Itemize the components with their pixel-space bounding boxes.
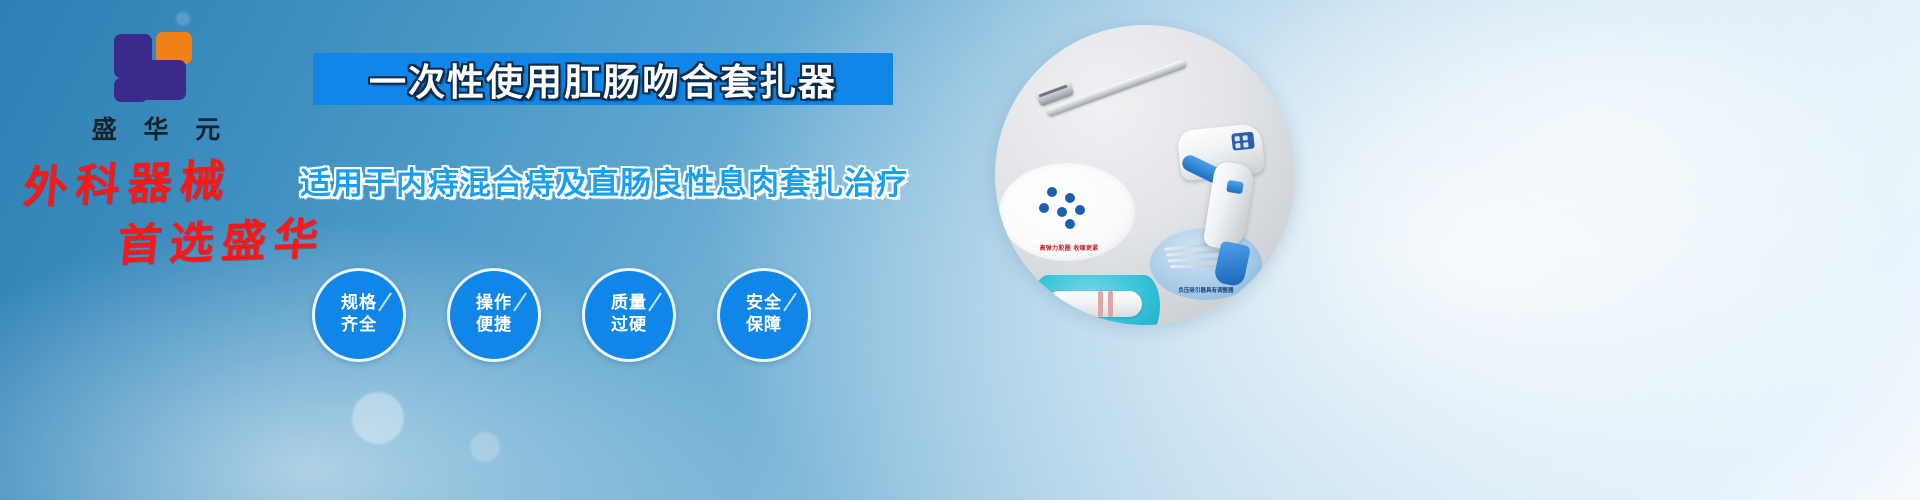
feature-badge-line-1: 规格 xyxy=(341,293,377,315)
feature-badge-line-2: 便捷 xyxy=(476,315,512,337)
feature-badge-operation[interactable]: 操作 便捷 xyxy=(447,268,541,362)
company-logo[interactable]: 盛 华 元 xyxy=(66,26,246,146)
page-title: 一次性使用肛肠吻合套扎器 xyxy=(313,53,893,105)
feature-badge-quality[interactable]: 质量 过硬 xyxy=(582,268,676,362)
calligraphy-line-1: 外科器械 xyxy=(21,144,235,215)
feature-badge-line-1: 安全 xyxy=(746,293,782,315)
bokeh-dot xyxy=(470,432,500,462)
bokeh-dot xyxy=(176,12,190,26)
feature-badge-line-1: 操作 xyxy=(476,293,512,315)
slash-decoration-icon xyxy=(783,292,797,311)
promo-banner: 盛 华 元 外科器械 首选盛华 一次性使用肛肠吻合套扎器 适用于内痔混合痔及直肠… xyxy=(0,0,1920,500)
feature-badge-line-1: 质量 xyxy=(611,293,647,315)
feature-badge-safety[interactable]: 安全 保障 xyxy=(717,268,811,362)
feature-badge-list: 规格 齐全 操作 便捷 质量 过硬 安全 保障 xyxy=(312,268,811,362)
device-control-panel-icon xyxy=(1231,132,1255,151)
feature-badge-specification[interactable]: 规格 齐全 xyxy=(312,268,406,362)
feature-badge-line-2: 过硬 xyxy=(611,315,647,337)
calligraphy-line-2: 首选盛华 xyxy=(115,202,329,273)
logo-blocks-icon xyxy=(110,26,202,106)
slash-decoration-icon xyxy=(648,292,662,311)
background-glow-top-right xyxy=(1220,0,1920,360)
feature-badge-line-2: 保障 xyxy=(746,315,782,337)
stapler-device-illustration xyxy=(1031,53,1281,303)
slash-decoration-icon xyxy=(513,292,527,311)
feature-badge-line-2: 齐全 xyxy=(341,315,377,337)
slash-decoration-icon xyxy=(378,292,392,311)
logo-wordmark: 盛 华 元 xyxy=(66,110,246,146)
bokeh-dot xyxy=(352,392,404,444)
page-subtitle: 适用于内痔混合痔及直肠良性息肉套扎治疗 xyxy=(300,158,900,203)
product-photo[interactable]: 高弹力胶圈 收缩更紧 负压吸引器具有调整器 xyxy=(995,25,1295,325)
